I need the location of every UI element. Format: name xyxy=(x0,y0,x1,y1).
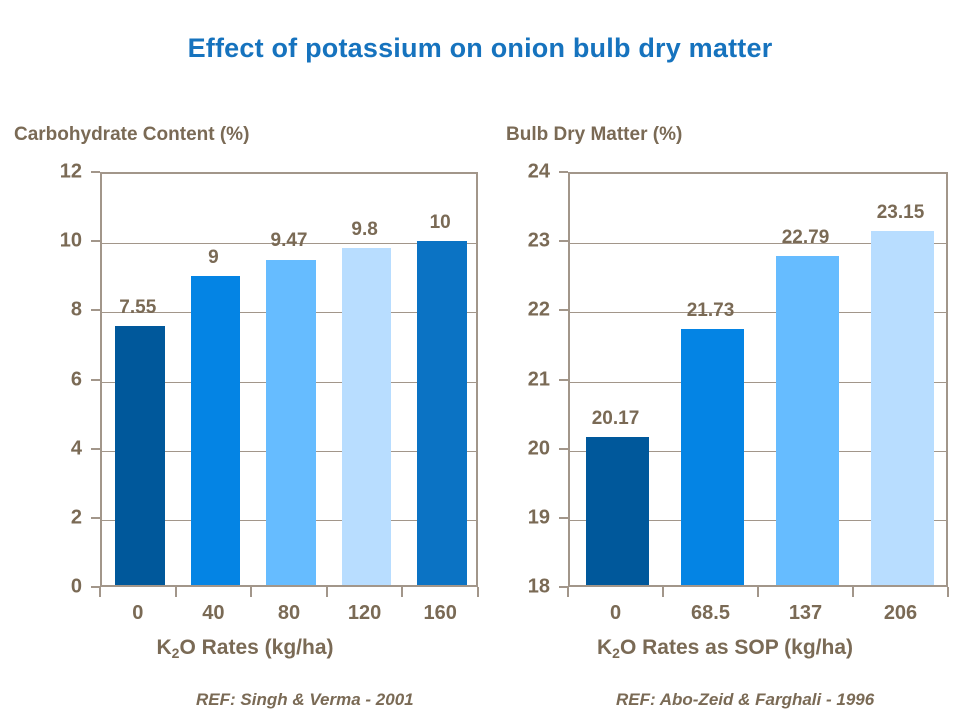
y-axis-tick-label: 24 xyxy=(504,161,550,184)
bar-value-label: 9.47 xyxy=(271,230,308,252)
bar-value-label: 9 xyxy=(208,247,219,269)
x-axis-tick-label: 0 xyxy=(610,602,621,625)
y-axis-tick-label: 19 xyxy=(504,506,550,529)
y-axis-tick-label: 10 xyxy=(38,230,82,253)
x-axis-tick-label: 206 xyxy=(884,602,917,625)
x-axis-title-pre: K xyxy=(156,636,171,659)
y-axis-tick-label: 12 xyxy=(38,161,82,184)
bar xyxy=(342,248,392,585)
bar-value-label: 22.79 xyxy=(782,227,830,249)
y-axis-tick-mark xyxy=(91,171,100,173)
x-axis-tick-label: 40 xyxy=(202,602,224,625)
bar-value-label: 9.8 xyxy=(351,219,377,241)
bar xyxy=(871,231,933,585)
x-axis-tick-mark xyxy=(567,587,569,597)
y-axis-tick-mark xyxy=(559,240,568,242)
x-axis-title-post: O Rates as SOP (kg/ha) xyxy=(620,636,853,659)
x-axis-tick-mark xyxy=(662,587,664,597)
chart-bulb-dry-matter: Bulb Dry Matter (%) K2O Rates as SOP (kg… xyxy=(490,0,960,720)
x-axis-title-pre: K xyxy=(597,636,612,659)
bar-value-label: 10 xyxy=(430,212,451,234)
x-axis-tick-mark xyxy=(757,587,759,597)
bar-value-label: 23.15 xyxy=(877,202,925,224)
y-axis-title: Carbohydrate Content (%) xyxy=(14,124,249,146)
plot-area xyxy=(568,172,948,587)
bar-value-label: 20.17 xyxy=(592,408,640,430)
slide-canvas: Effect of potassium on onion bulb dry ma… xyxy=(0,0,960,720)
x-axis-tick-label: 80 xyxy=(278,602,300,625)
x-axis-tick-label: 120 xyxy=(348,602,381,625)
y-axis-tick-label: 23 xyxy=(504,230,550,253)
bar-value-label: 21.73 xyxy=(687,300,735,322)
reference-note: REF: Singh & Verma - 2001 xyxy=(196,690,414,710)
x-axis-title: K2O Rates as SOP (kg/ha) xyxy=(490,636,960,660)
y-axis-tick-mark xyxy=(559,379,568,381)
y-axis-tick-mark xyxy=(91,309,100,311)
y-axis-tick-label: 22 xyxy=(504,299,550,322)
x-axis-tick-label: 0 xyxy=(132,602,143,625)
y-axis-tick-label: 8 xyxy=(38,299,82,322)
y-axis-tick-label: 6 xyxy=(38,368,82,391)
bar xyxy=(681,329,743,585)
x-axis-tick-label: 68.5 xyxy=(691,602,730,625)
y-axis-tick-mark xyxy=(559,517,568,519)
bar xyxy=(586,437,648,585)
reference-note: REF: Abo-Zeid & Farghali - 1996 xyxy=(616,690,874,710)
y-axis-title: Bulb Dry Matter (%) xyxy=(506,124,682,146)
x-axis-title: K2O Rates (kg/ha) xyxy=(0,636,490,660)
y-axis-tick-mark xyxy=(91,379,100,381)
bar xyxy=(266,260,316,586)
x-axis-tick-mark xyxy=(326,587,328,597)
bar xyxy=(417,241,467,585)
bar xyxy=(776,256,838,585)
y-axis-tick-mark xyxy=(559,171,568,173)
x-axis-tick-mark xyxy=(852,587,854,597)
y-axis-tick-mark xyxy=(559,309,568,311)
y-axis-tick-mark xyxy=(91,517,100,519)
x-axis-tick-mark xyxy=(175,587,177,597)
x-axis-tick-mark xyxy=(250,587,252,597)
chart-carbohydrate-content: Carbohydrate Content (%) K2O Rates (kg/h… xyxy=(0,0,490,720)
y-axis-tick-label: 0 xyxy=(38,576,82,599)
y-axis-tick-label: 2 xyxy=(38,506,82,529)
y-axis-tick-label: 18 xyxy=(504,576,550,599)
x-axis-title-post: O Rates (kg/ha) xyxy=(179,636,333,659)
bar-value-label: 7.55 xyxy=(119,297,156,319)
x-axis-tick-label: 137 xyxy=(789,602,822,625)
x-axis-title-sub: 2 xyxy=(172,645,180,661)
x-axis-tick-mark xyxy=(401,587,403,597)
x-axis-tick-mark xyxy=(947,587,949,597)
x-axis-tick-mark xyxy=(477,587,479,597)
y-axis-tick-label: 20 xyxy=(504,437,550,460)
y-axis-tick-mark xyxy=(91,448,100,450)
bar xyxy=(115,326,165,585)
y-axis-tick-label: 4 xyxy=(38,437,82,460)
y-axis-tick-label: 21 xyxy=(504,368,550,391)
x-axis-tick-label: 160 xyxy=(424,602,457,625)
x-axis-tick-mark xyxy=(99,587,101,597)
y-axis-tick-mark xyxy=(559,448,568,450)
x-axis-title-sub: 2 xyxy=(612,645,620,661)
y-axis-tick-mark xyxy=(91,240,100,242)
bar xyxy=(191,276,241,585)
